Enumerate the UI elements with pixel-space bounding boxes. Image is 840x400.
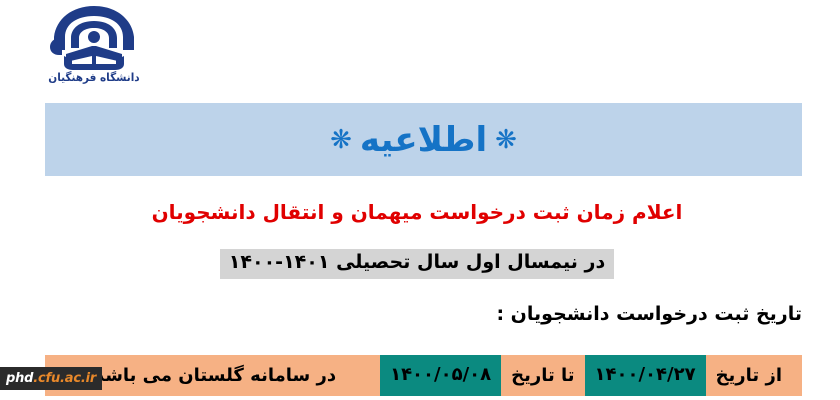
watermark-prefix: phd bbox=[6, 371, 33, 386]
to-date-value: ۱۴۰۰/۰۵/۰۸ bbox=[380, 355, 501, 396]
headline-text: اعلام زمان ثبت درخواست میهمان و انتقال د… bbox=[32, 200, 802, 224]
announcement-banner: ❋ اطلاعیه ❋ bbox=[45, 103, 802, 176]
farhangian-university-emblem-icon bbox=[42, 4, 146, 76]
from-date-label: از تاریخ bbox=[706, 367, 792, 385]
to-date-label: تا تاریخ bbox=[501, 367, 584, 385]
date-range-band: از تاریخ ۱۴۰۰/۰۴/۲۷ تا تاریخ ۱۴۰۰/۰۵/۰۸ … bbox=[45, 355, 802, 396]
from-date-value: ۱۴۰۰/۰۴/۲۷ bbox=[585, 355, 706, 396]
date-label-row: تاریخ ثبت درخواست دانشجویان : bbox=[32, 303, 802, 325]
watermark-domain: .cfu.ac.ir bbox=[33, 371, 96, 386]
star-left-icon: ❋ bbox=[495, 127, 517, 153]
banner-content: ❋ اطلاعیه ❋ bbox=[330, 123, 517, 157]
logo-caption: دانشگاه فرهنگیان bbox=[45, 72, 144, 84]
band-tail-text: در سامانه گلستان می باشد . bbox=[82, 367, 380, 385]
banner-title: اطلاعیه bbox=[360, 123, 487, 157]
site-watermark: phd .cfu.ac.ir bbox=[0, 367, 102, 390]
announcement-page: دانشگاه فرهنگیان ❋ اطلاعیه ❋ اعلام زمان … bbox=[0, 0, 840, 400]
subtitle-highlight: در نیمسال اول سال تحصیلی ۱۴۰۱-۱۴۰۰ bbox=[220, 249, 614, 279]
subtitle-row: در نیمسال اول سال تحصیلی ۱۴۰۱-۱۴۰۰ bbox=[32, 249, 802, 279]
date-label: تاریخ ثبت درخواست دانشجویان : bbox=[496, 303, 802, 325]
university-logo: دانشگاه فرهنگیان bbox=[42, 4, 146, 96]
star-right-icon: ❋ bbox=[330, 127, 352, 153]
